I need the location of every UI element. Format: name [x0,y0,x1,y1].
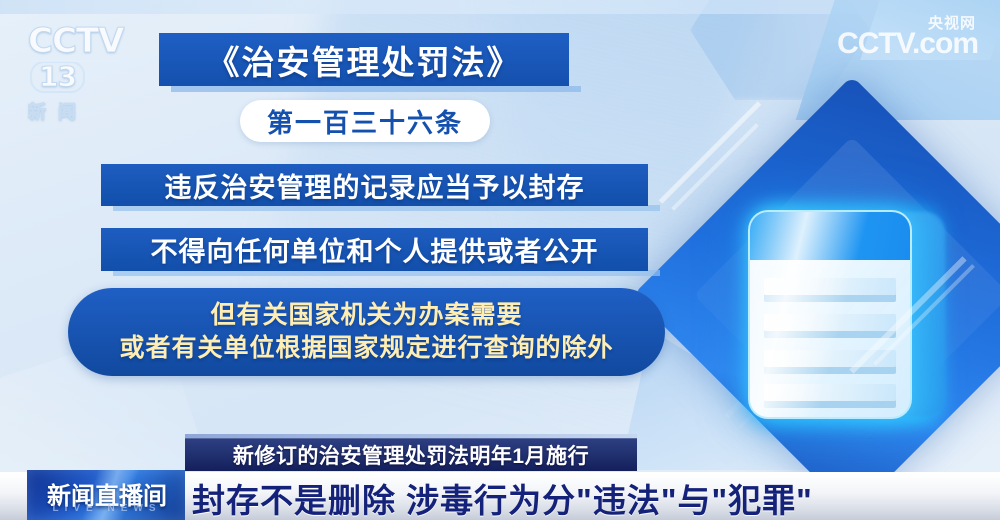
cctv13-logo-text: CCTV [28,21,123,61]
statement-box-2: 不得向任何单位和个人提供或者公开 [101,228,648,271]
program-name-en: LIVE NEWS [39,503,175,514]
article-number-pill: 第一百三十六条 [240,100,490,142]
program-badge: 新闻直播间 LIVE NEWS [27,470,185,520]
cctv13-logo-subtitle: 新闻 [28,98,168,124]
exception-line-1: 但有关国家机关为办案需要 [210,299,522,332]
statement-box-1: 违反治安管理的记录应当予以封存 [101,164,648,206]
broadcast-screen: CCTV13 新闻 央视网 CCTV.com 《治安管理处罚法》 第一百三十六条… [0,0,1000,520]
article-number-text: 第一百三十六条 [267,103,463,140]
subheadline-bar: 新修订的治安管理处罚法明年1月施行 [185,438,637,471]
exception-box: 但有关国家机关为办案需要 或者有关单位根据国家规定进行查询的除外 [68,288,665,376]
exception-line-2: 或者有关单位根据国家规定进行查询的除外 [119,332,613,365]
title-banner-shadow [171,86,581,92]
cctv-com-watermark: 央视网 CCTV.com [837,12,978,61]
statement-2-text: 不得向任何单位和个人提供或者公开 [151,230,599,269]
headline-text: 封存不是删除 涉毒行为分"违法"与"犯罪" [192,474,813,520]
cctv13-logo-underline [30,60,148,62]
watermark-en-text: CCTV.com [837,27,978,61]
subheadline-text: 新修订的治安管理处罚法明年1月施行 [233,440,589,470]
law-title-text: 《治安管理处罚法》 [207,36,522,84]
cctv13-logo-number: 13 [30,61,85,93]
law-title-banner: 《治安管理处罚法》 [159,33,569,86]
cctv13-logo: CCTV13 新闻 [28,24,168,86]
statement-1-text: 违反治安管理的记录应当予以封存 [165,166,585,205]
document-icon [748,210,912,419]
